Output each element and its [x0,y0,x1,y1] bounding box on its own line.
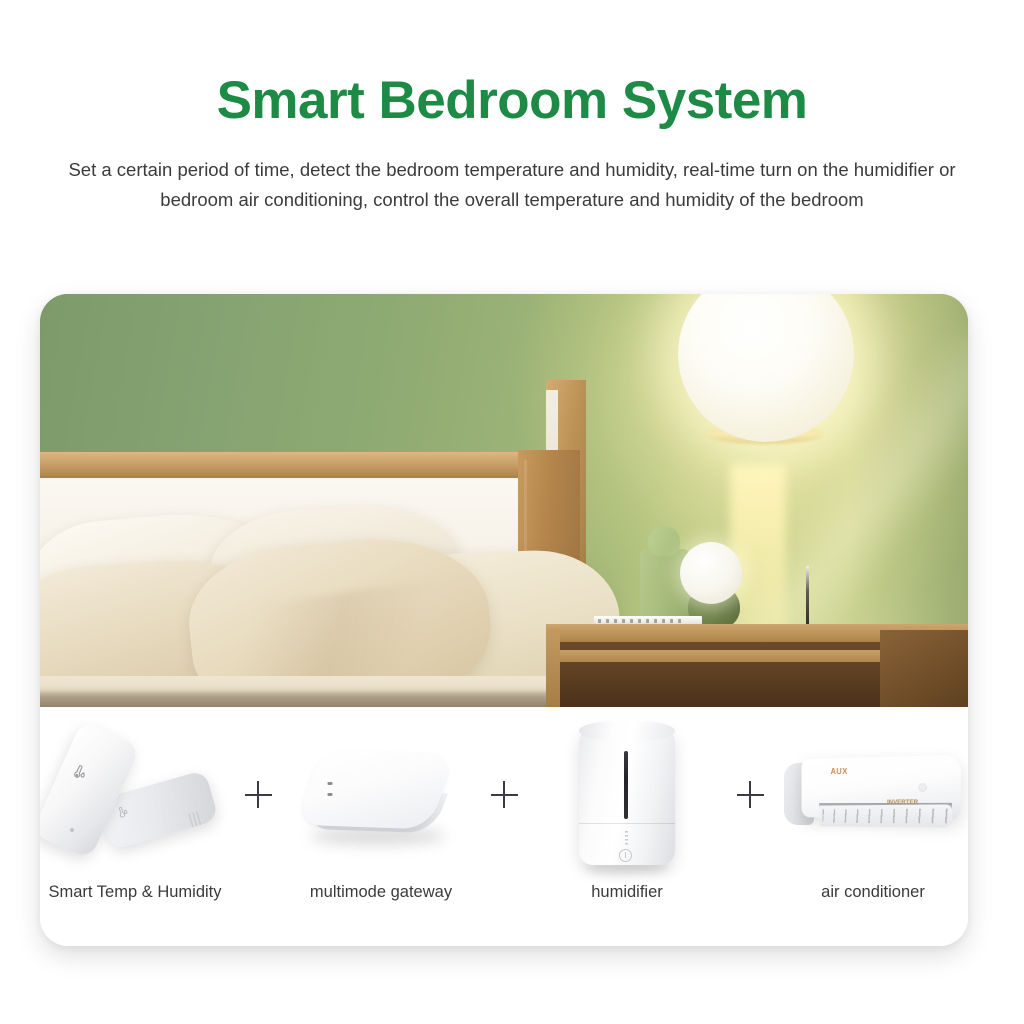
header: Smart Bedroom System Set a certain perio… [0,0,1024,215]
humidifier-level-dots-icon [625,831,628,847]
plus-icon [737,781,764,808]
page-subtitle: Set a certain period of time, detect the… [64,155,960,215]
product-label-air-conditioner: air conditioner [778,882,968,903]
humidifier-tank-seam [579,823,675,825]
reed-diffuser-icon [806,566,809,628]
air-conditioner-badge: INVERTER [887,798,918,805]
product-labels-row: Smart Temp & Humidity multimode gateway … [40,882,968,903]
plus-icon [245,781,272,808]
nightstand-left-edge [546,628,560,707]
product-item-humidifier[interactable] [532,707,722,882]
air-conditioner-sensor-dot-icon [918,783,927,792]
humidifier-mist-slot [624,751,628,819]
bed-frame-top-rail [40,452,580,478]
hero-bedroom-photo [40,294,968,707]
product-infographic-page: Smart Bedroom System Set a certain perio… [0,0,1024,1024]
multimode-gateway-image [294,735,469,855]
white-globe-table-lamp-icon [680,542,742,604]
plus-separator-2 [476,707,532,882]
air-conditioner-vent [819,804,952,827]
product-label-temp-humidity-sensor: Smart Temp & Humidity [40,882,230,903]
product-images-row: AUX INVERTER [40,707,968,882]
product-card: AUX INVERTER Smart Temp & Humidity multi… [40,294,968,946]
gateway-led-indicator-1 [328,782,333,785]
humidifier-power-button-icon [619,849,632,862]
bed-under-shadow [40,692,570,707]
air-conditioner-brand-mark: AUX [831,766,848,775]
gateway-led-indicator-2 [328,793,333,796]
nightstand-right-panel [880,630,968,707]
product-item-multimode-gateway[interactable] [286,707,476,882]
product-label-multimode-gateway: multimode gateway [286,882,476,903]
product-label-humidifier: humidifier [532,882,722,903]
product-item-air-conditioner[interactable]: AUX INVERTER [778,707,968,882]
plus-separator-3 [722,707,778,882]
humidifier-image [579,721,675,869]
product-lineup: AUX INVERTER Smart Temp & Humidity multi… [40,707,968,946]
nightstand-shelf [560,650,910,662]
page-title: Smart Bedroom System [0,72,1024,129]
air-conditioner-louvers-icon [823,808,948,823]
plus-separator-1 [230,707,286,882]
plus-icon [491,781,518,808]
air-conditioner-image: AUX INVERTER [782,743,964,847]
product-item-temp-humidity-sensor[interactable] [40,707,230,882]
humidifier-top-cap [579,721,675,741]
temp-humidity-sensor-image [40,720,230,870]
green-vase-lid [648,526,680,556]
